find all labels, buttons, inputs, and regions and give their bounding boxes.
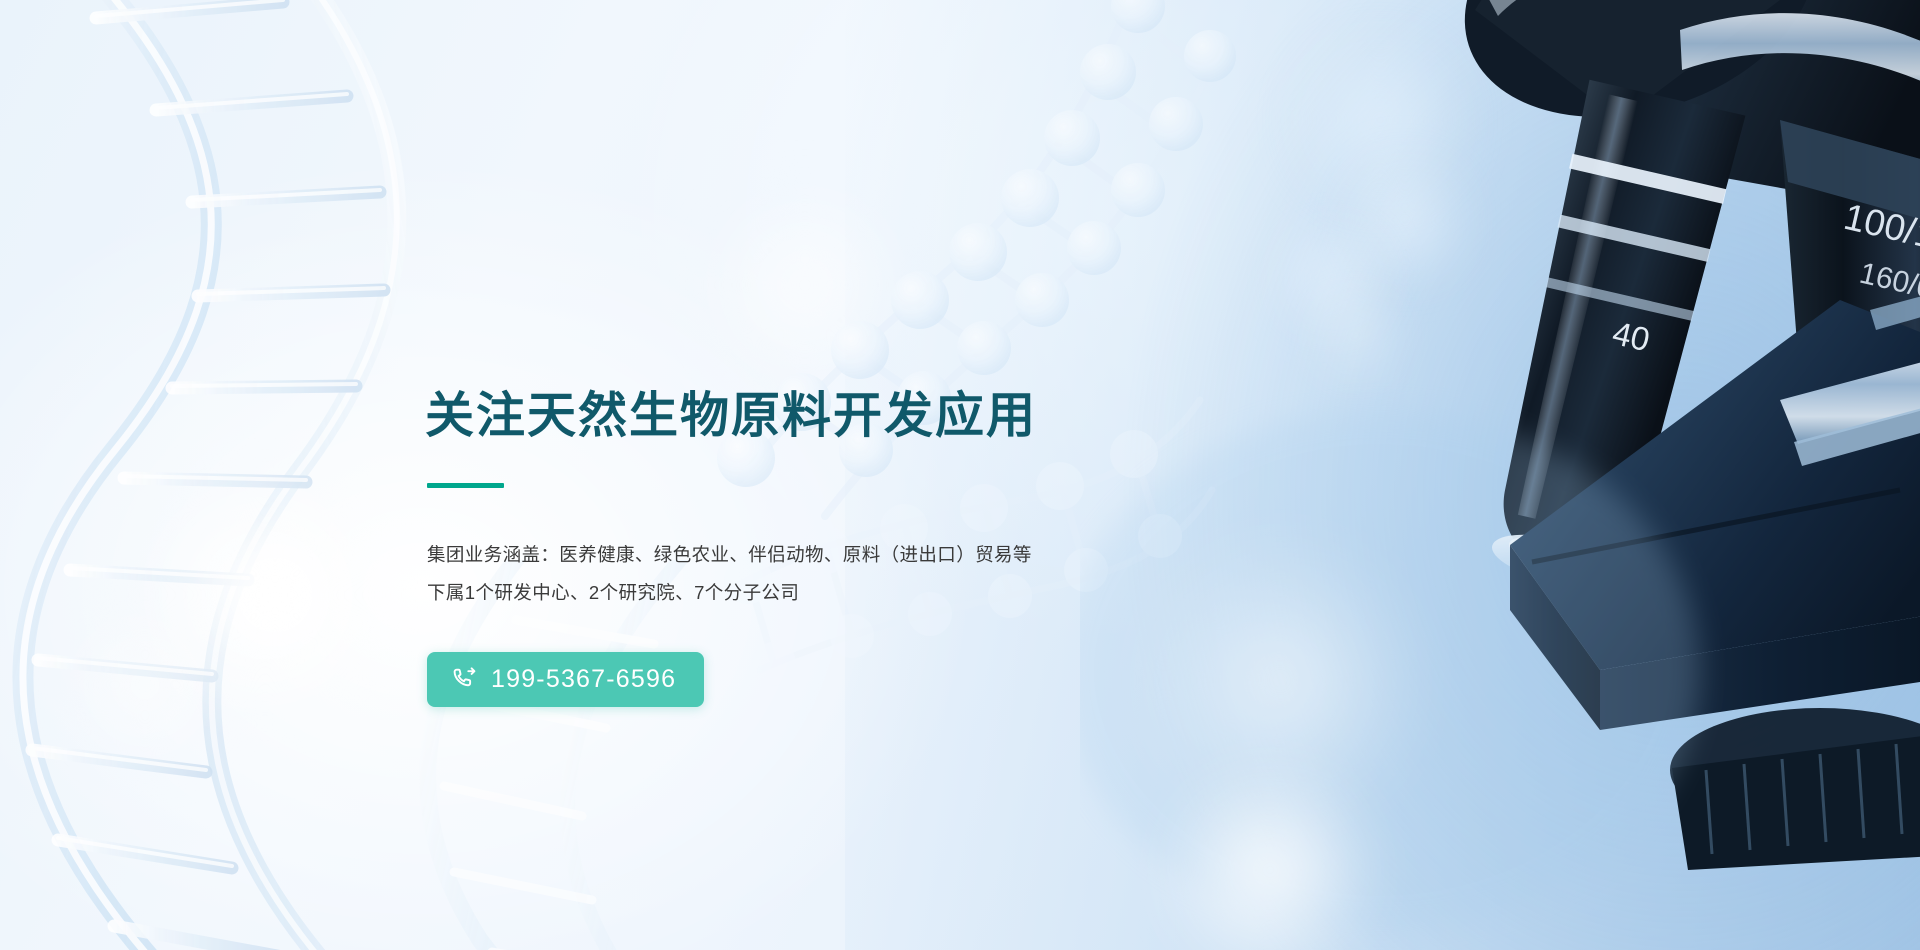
laboratory-microscope-icon: 100/1.25 160/0.17 100 40 bbox=[1080, 0, 1920, 950]
hero-description: 集团业务涵盖：医养健康、绿色农业、伴侣动物、原料（进出口）贸易等 下属1个研发中… bbox=[427, 536, 1185, 612]
hero-banner: 100/1.25 160/0.17 100 40 bbox=[0, 0, 1920, 950]
phone-number-label: 199-5367-6596 bbox=[491, 665, 676, 694]
phone-forward-icon bbox=[451, 666, 478, 693]
microscope-condenser bbox=[1670, 708, 1920, 870]
title-accent-bar bbox=[427, 483, 504, 488]
hero-content: 关注天然生物原料开发应用 集团业务涵盖：医养健康、绿色农业、伴侣动物、原料（进出… bbox=[425, 390, 1185, 707]
hero-description-line-2: 下属1个研发中心、2个研究院、7个分子公司 bbox=[427, 574, 1185, 612]
page-title: 关注天然生物原料开发应用 bbox=[425, 390, 1185, 443]
hero-description-line-1: 集团业务涵盖：医养健康、绿色农业、伴侣动物、原料（进出口）贸易等 bbox=[427, 536, 1185, 574]
call-phone-button[interactable]: 199-5367-6596 bbox=[427, 652, 704, 707]
